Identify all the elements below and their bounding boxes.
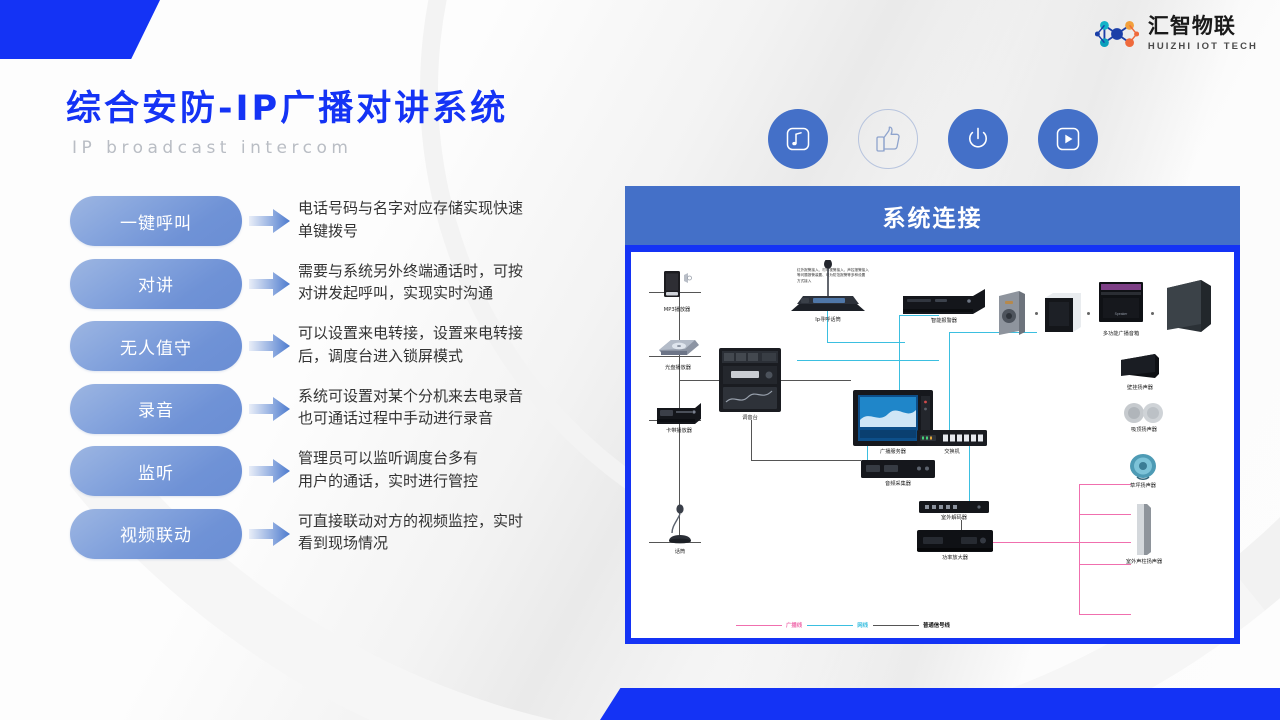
feature-text-line: 电话号码与名字对应存储实现快速 xyxy=(298,197,630,220)
feature-list: 一键呼叫 电话号码与名字对应存储实现快速 单键拨号 对讲 需要与 xyxy=(70,196,630,571)
device-power-amplifier: 功率放大器 xyxy=(917,530,993,557)
device-label: 室外解码器 xyxy=(941,514,967,521)
legend-item-broadcast: 广播线 xyxy=(736,621,802,629)
logo-company-name-en: HUIZHI IOT TECH xyxy=(1148,42,1258,52)
power-icon-button[interactable] xyxy=(948,109,1008,169)
arrow-right-icon xyxy=(242,446,298,496)
list-item[interactable]: 视频联动 可直接联动对方的视频监控，实时 看到现场情况 xyxy=(70,509,630,559)
diagram-line-network xyxy=(827,342,905,343)
device-label: 交换机 xyxy=(944,448,960,455)
play-icon-button[interactable] xyxy=(1038,109,1098,169)
feature-pill-0[interactable]: 一键呼叫 xyxy=(70,196,242,246)
device-outdoor-decoder: 室外解码器 xyxy=(919,500,989,518)
feature-pill-4[interactable]: 监听 xyxy=(70,446,242,496)
diagram-line-broadcast xyxy=(1079,564,1131,565)
legend-label: 普通信号线 xyxy=(923,621,950,629)
feature-pill-3[interactable]: 录音 xyxy=(70,384,242,434)
diagram-line-broadcast xyxy=(991,542,1131,543)
feature-pill-5[interactable]: 视频联动 xyxy=(70,509,242,559)
molecule-network-icon xyxy=(1095,14,1139,54)
diagram-line xyxy=(751,420,752,460)
device-network-switch: 交换机 xyxy=(917,430,987,451)
svg-text:Speaker: Speaker xyxy=(1115,312,1128,316)
legend-label: 网线 xyxy=(857,621,868,629)
list-item[interactable]: 对讲 需要与系统另外终端通话时，可按 对讲发起呼叫，实现实时沟通 xyxy=(70,259,630,309)
feature-text-line: 看到现场情况 xyxy=(298,532,630,555)
device-subwoofer xyxy=(1161,278,1213,339)
device-ip-network-mic: Ip寻呼话筒 xyxy=(783,260,873,321)
diagram-line-broadcast xyxy=(1079,614,1131,615)
diagram-line-broadcast xyxy=(1079,484,1131,485)
list-item[interactable]: 监听 管理员可以监听调度台多有 用户的通话，实时进行管控 xyxy=(70,446,630,496)
feature-text-line: 需要与系统另外终端通话时，可按 xyxy=(298,260,630,283)
diagram-line xyxy=(781,380,851,381)
device-cd-player: 光盘播放器 xyxy=(657,334,699,365)
icon-button-row xyxy=(768,109,1098,169)
diagram-dot xyxy=(1087,312,1090,315)
panel-frame: 红外报警接入、村可视警接入、声控报警接入等问题报警装置、可为防范报警等多种设置方… xyxy=(625,245,1240,644)
feature-text-4: 管理员可以监听调度台多有 用户的通话，实时进行管控 xyxy=(298,446,630,493)
feature-text-5: 可直接联动对方的视频监控，实时 看到现场情况 xyxy=(298,509,630,556)
diagram-line-network xyxy=(797,360,939,361)
device-wall-speaker: 壁挂扬声器 xyxy=(1119,352,1161,387)
feature-text-line: 对讲发起呼叫，实现实时沟通 xyxy=(298,282,630,305)
device-alarm: 智能报警器 xyxy=(903,288,985,319)
device-multi-func-speaker: Speaker 多功能广播音箱 xyxy=(1097,280,1145,333)
device-multi-func-speaker-a xyxy=(997,290,1027,341)
diagram-line-broadcast xyxy=(1079,514,1131,515)
feature-text-0: 电话号码与名字对应存储实现快速 单键拨号 xyxy=(298,196,630,243)
arrow-right-icon xyxy=(242,196,298,246)
feature-text-line: 用户的通话，实时进行管控 xyxy=(298,470,630,493)
device-ceiling-speaker: 吸顶扬声器 xyxy=(1123,402,1165,429)
diagram-line xyxy=(751,460,861,461)
list-item[interactable]: 一键呼叫 电话号码与名字对应存储实现快速 单键拨号 xyxy=(70,196,630,246)
diagram-legend: 广播线 网线 普通信号线 xyxy=(736,621,950,629)
feature-text-line: 管理员可以监听调度台多有 xyxy=(298,447,630,470)
panel-title: 系统连接 xyxy=(883,199,983,233)
device-label: 功率放大器 xyxy=(942,554,968,561)
device-multi-func-speaker-b xyxy=(1045,292,1081,339)
diagram-dot xyxy=(1035,312,1038,315)
legend-swatch xyxy=(873,625,919,626)
device-label: 草坪扬声器 xyxy=(1130,482,1156,489)
device-mixer-console: 调音台 xyxy=(719,348,781,417)
device-label: Ip寻呼话筒 xyxy=(815,316,841,323)
legend-item-signal: 普通信号线 xyxy=(873,621,950,629)
legend-label: 广播线 xyxy=(786,621,802,629)
arrow-right-icon xyxy=(242,259,298,309)
logo-company-name-cn: 汇智物联 xyxy=(1148,16,1258,37)
list-item[interactable]: 无人值守 可以设置来电转接，设置来电转接 后，调度台进入锁屏模式 xyxy=(70,321,630,371)
device-label: 话筒 xyxy=(675,548,685,555)
device-lawn-speaker: 草坪扬声器 xyxy=(1127,452,1159,485)
diagram-line xyxy=(679,380,721,381)
diagram-line-broadcast xyxy=(1079,484,1080,614)
device-microphone: 话筒 xyxy=(665,504,695,551)
feature-text-line: 系统可设置对某个分机来去电录音 xyxy=(298,385,630,408)
legend-swatch xyxy=(736,625,782,626)
feature-text-line: 也可通话过程中手动进行录音 xyxy=(298,407,630,430)
device-label: 音频采集器 xyxy=(885,480,911,487)
device-audio-collector: 音频采集器 xyxy=(861,460,935,483)
page-subtitle: IP broadcast intercom xyxy=(72,138,352,158)
feature-pill-2[interactable]: 无人值守 xyxy=(70,321,242,371)
device-label: 多功能广播音箱 xyxy=(1103,330,1139,337)
feature-text-3: 系统可设置对某个分机来去电录音 也可通话过程中手动进行录音 xyxy=(298,384,630,431)
feature-pill-1[interactable]: 对讲 xyxy=(70,259,242,309)
brand-logo: 汇智物联 HUIZHI IOT TECH xyxy=(1095,14,1258,54)
device-label: MP3播放器 xyxy=(664,306,690,313)
feature-text-2: 可以设置来电转接，设置来电转接 后，调度台进入锁屏模式 xyxy=(298,321,630,368)
device-label: 调音台 xyxy=(742,414,758,421)
device-label: 壁挂扬声器 xyxy=(1127,384,1153,391)
system-connection-panel: 系统连接 xyxy=(625,186,1240,644)
device-label: 广播服务器 xyxy=(880,448,906,455)
device-outdoor-column-speaker: 室外声柱扬声器 xyxy=(1133,502,1155,561)
arrow-right-icon xyxy=(242,384,298,434)
system-diagram: 红外报警接入、村可视警接入、声控报警接入等问题报警装置、可为防范报警等多种设置方… xyxy=(631,252,1234,638)
legend-swatch xyxy=(807,625,853,626)
feature-text-line: 可以设置来电转接，设置来电转接 xyxy=(298,322,630,345)
arrow-right-icon xyxy=(242,321,298,371)
list-item[interactable]: 录音 系统可设置对某个分机来去电录音 也可通话过程中手动进行录音 xyxy=(70,384,630,434)
corner-accent-bottom-right xyxy=(600,688,1280,720)
diagram-line-network xyxy=(949,332,950,437)
device-label: 智能报警器 xyxy=(931,317,957,324)
feature-text-1: 需要与系统另外终端通话时，可按 对讲发起呼叫，实现实时沟通 xyxy=(298,259,630,306)
feature-text-line: 可直接联动对方的视频监控，实时 xyxy=(298,510,630,533)
panel-header: 系统连接 xyxy=(625,186,1240,245)
diagram-dot xyxy=(1151,312,1154,315)
page-title: 综合安防-IP广播对讲系统 xyxy=(66,80,508,131)
feature-text-line: 单键拨号 xyxy=(298,220,630,243)
arrow-right-icon xyxy=(242,509,298,559)
feature-text-line: 后，调度台进入锁屏模式 xyxy=(298,345,630,368)
device-mp3-player: MP3播放器 xyxy=(661,270,693,309)
device-label: 室外声柱扬声器 xyxy=(1126,558,1162,565)
music-note-icon-button[interactable] xyxy=(768,109,828,169)
thumbs-up-icon-button[interactable] xyxy=(858,109,918,169)
device-cassette-player: 卡带播放器 xyxy=(657,400,701,429)
device-label: 卡带播放器 xyxy=(666,427,692,434)
device-label: 吸顶扬声器 xyxy=(1131,426,1157,433)
legend-item-network: 网线 xyxy=(807,621,868,629)
device-label: 光盘播放器 xyxy=(665,364,691,371)
